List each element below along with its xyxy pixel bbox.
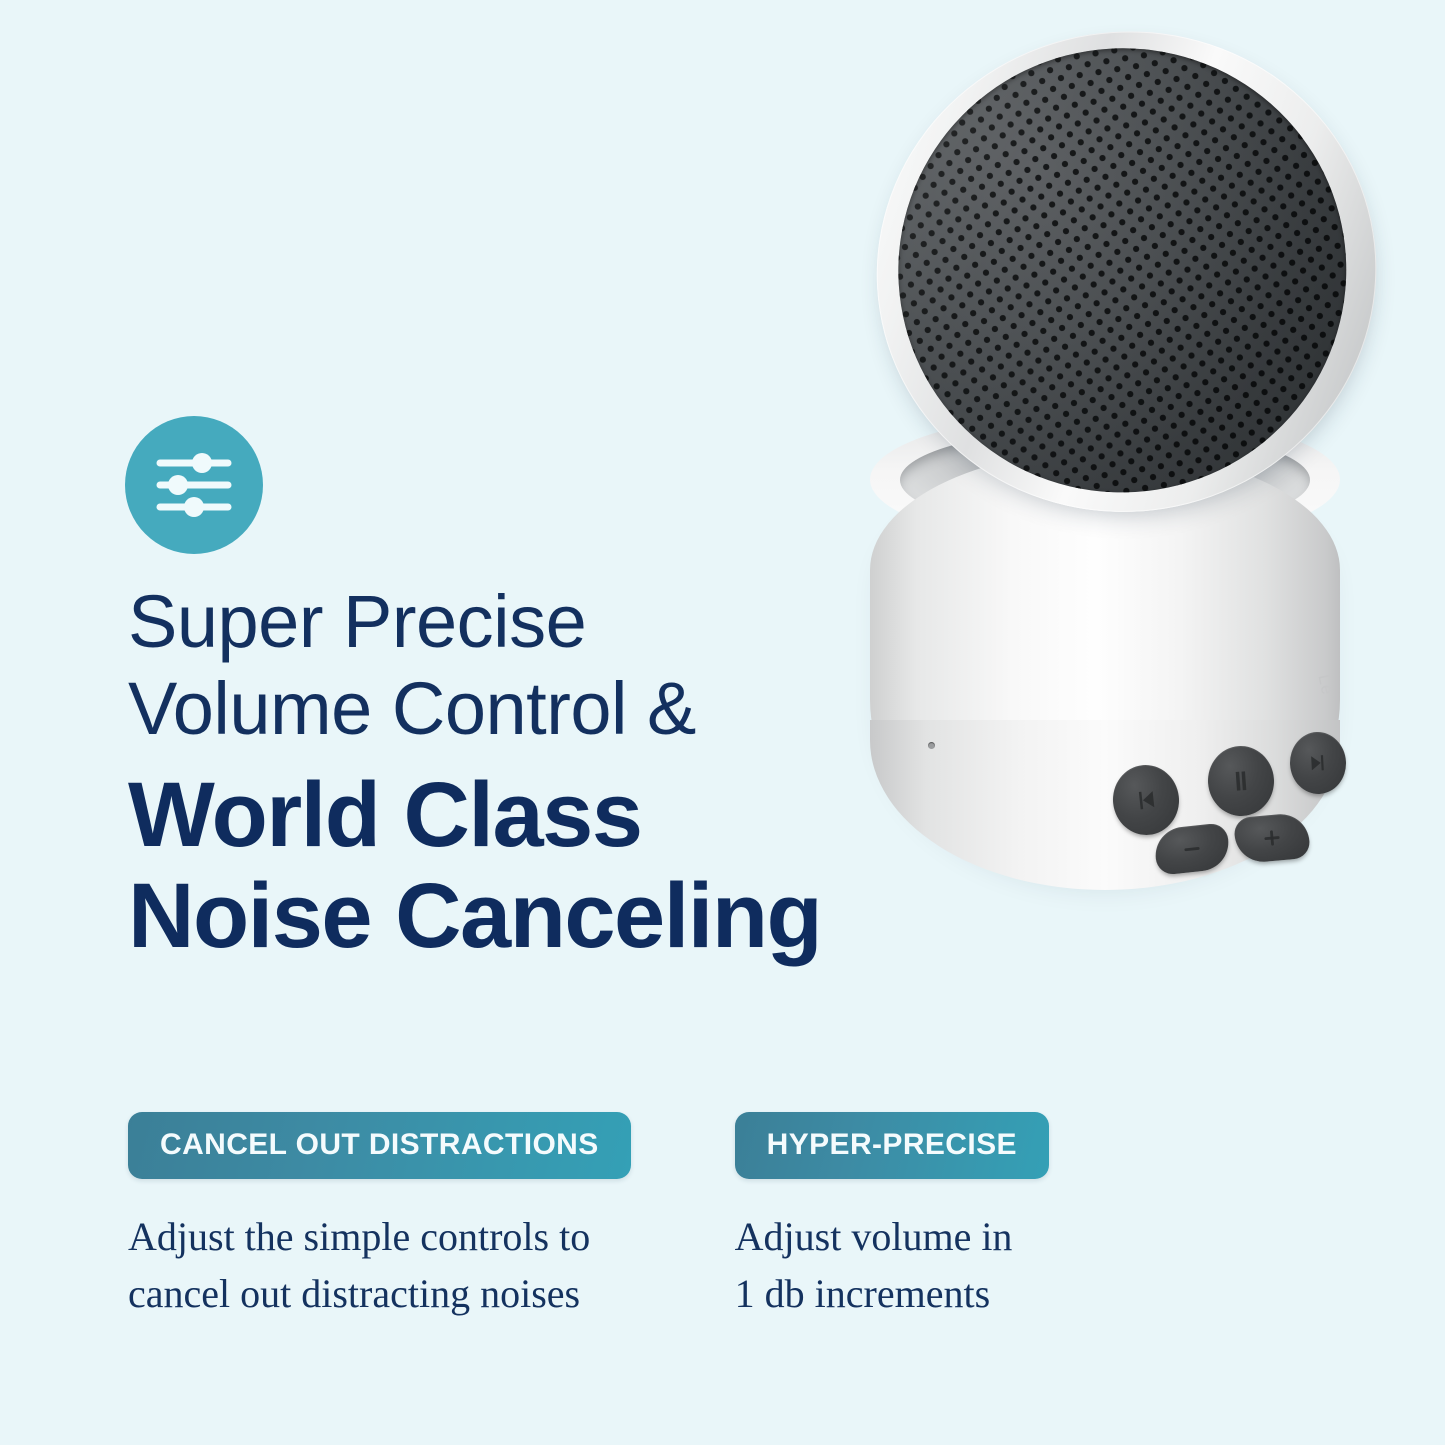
sliders-icon <box>152 449 236 521</box>
product-side-marking: Le <box>1314 673 1338 698</box>
grille-bezel <box>842 0 1411 548</box>
skip-back-icon <box>1130 784 1163 817</box>
grille-perforations <box>866 16 1378 525</box>
feature-column-2: HYPER-PRECISE Adjust volume in 1 db incr… <box>735 1112 1049 1323</box>
feature-description-1: Adjust the simple controls to cancel out… <box>128 1209 590 1323</box>
sliders-icon-badge <box>125 416 263 554</box>
page-title: Super Precise Volume Control & World Cla… <box>128 578 1108 967</box>
slider-handle-3 <box>184 497 204 517</box>
slider-handle-1 <box>192 453 212 473</box>
speaker-grille <box>842 0 1434 568</box>
headline-light-line-1: Super Precise <box>128 578 1108 665</box>
plus-icon <box>1258 824 1286 852</box>
status-badge-hyper-precise: HYPER-PRECISE <box>735 1112 1049 1179</box>
headline-bold-line-2: Noise Canceling <box>128 866 1108 967</box>
headline-bold: World Class Noise Canceling <box>128 765 1108 967</box>
minus-icon <box>1178 835 1207 864</box>
slider-handle-2 <box>168 475 188 495</box>
feature-description-2: Adjust volume in 1 db increments <box>735 1209 1013 1323</box>
pause-icon <box>1226 766 1256 796</box>
marketing-card: Le <box>0 0 1445 1445</box>
headline-bold-line-1: World Class <box>128 765 1108 866</box>
skip-forward-icon <box>1304 749 1331 776</box>
feature-columns: CANCEL OUT DISTRACTIONS Adjust the simpl… <box>128 1112 1318 1323</box>
status-badge-cancel-out-distractions: CANCEL OUT DISTRACTIONS <box>128 1112 631 1179</box>
headline-light-line-2: Volume Control & <box>128 665 1108 752</box>
grille-face <box>866 16 1378 525</box>
feature-column-1: CANCEL OUT DISTRACTIONS Adjust the simpl… <box>128 1112 631 1323</box>
